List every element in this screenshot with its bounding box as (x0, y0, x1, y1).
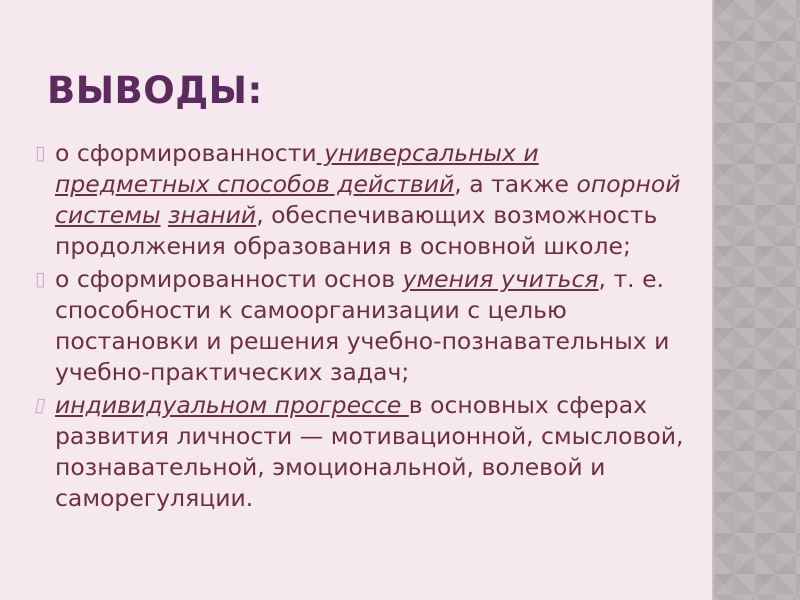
text-segment-emphasis: индивидуальном прогрессе (55, 391, 409, 419)
slide-content-area: ВЫВОДЫ: ▯ о сформированности универсальн… (0, 0, 714, 600)
decorative-diamond-sidebar (714, 0, 800, 600)
page-title: ВЫВОДЫ: (47, 72, 263, 109)
list-item-text: о сформированности основ умения учиться,… (55, 264, 693, 388)
list-item: ▯ о сформированности универсальных и пре… (33, 138, 693, 262)
text-segment: о сформированности основ (55, 265, 403, 293)
text-segment: , а также (454, 170, 576, 198)
bullet-marker-icon: ▯ (33, 138, 55, 169)
bullet-marker-icon: ▯ (30, 390, 59, 421)
list-item: ▯ индивидуальном прогрессе в основных сф… (33, 390, 693, 514)
list-item: ▯ о сформированности основ умения учитьс… (33, 264, 693, 388)
bullet-marker-icon: ▯ (33, 264, 55, 295)
list-item-text: о сформированности универсальных и предм… (55, 138, 693, 262)
bullet-list: ▯ о сформированности универсальных и пре… (33, 138, 693, 516)
presentation-slide: ВЫВОДЫ: ▯ о сформированности универсальн… (0, 0, 800, 600)
text-segment-emphasis: знаний (168, 201, 256, 229)
text-segment-emphasis: системы (55, 201, 161, 229)
list-item-text: индивидуальном прогрессе в основных сфер… (55, 390, 693, 514)
text-segment: о сформированности (55, 139, 317, 167)
text-segment-space (161, 201, 168, 229)
text-segment-emphasis: умения учиться (403, 265, 599, 293)
text-segment-italic: опорной (577, 170, 681, 198)
